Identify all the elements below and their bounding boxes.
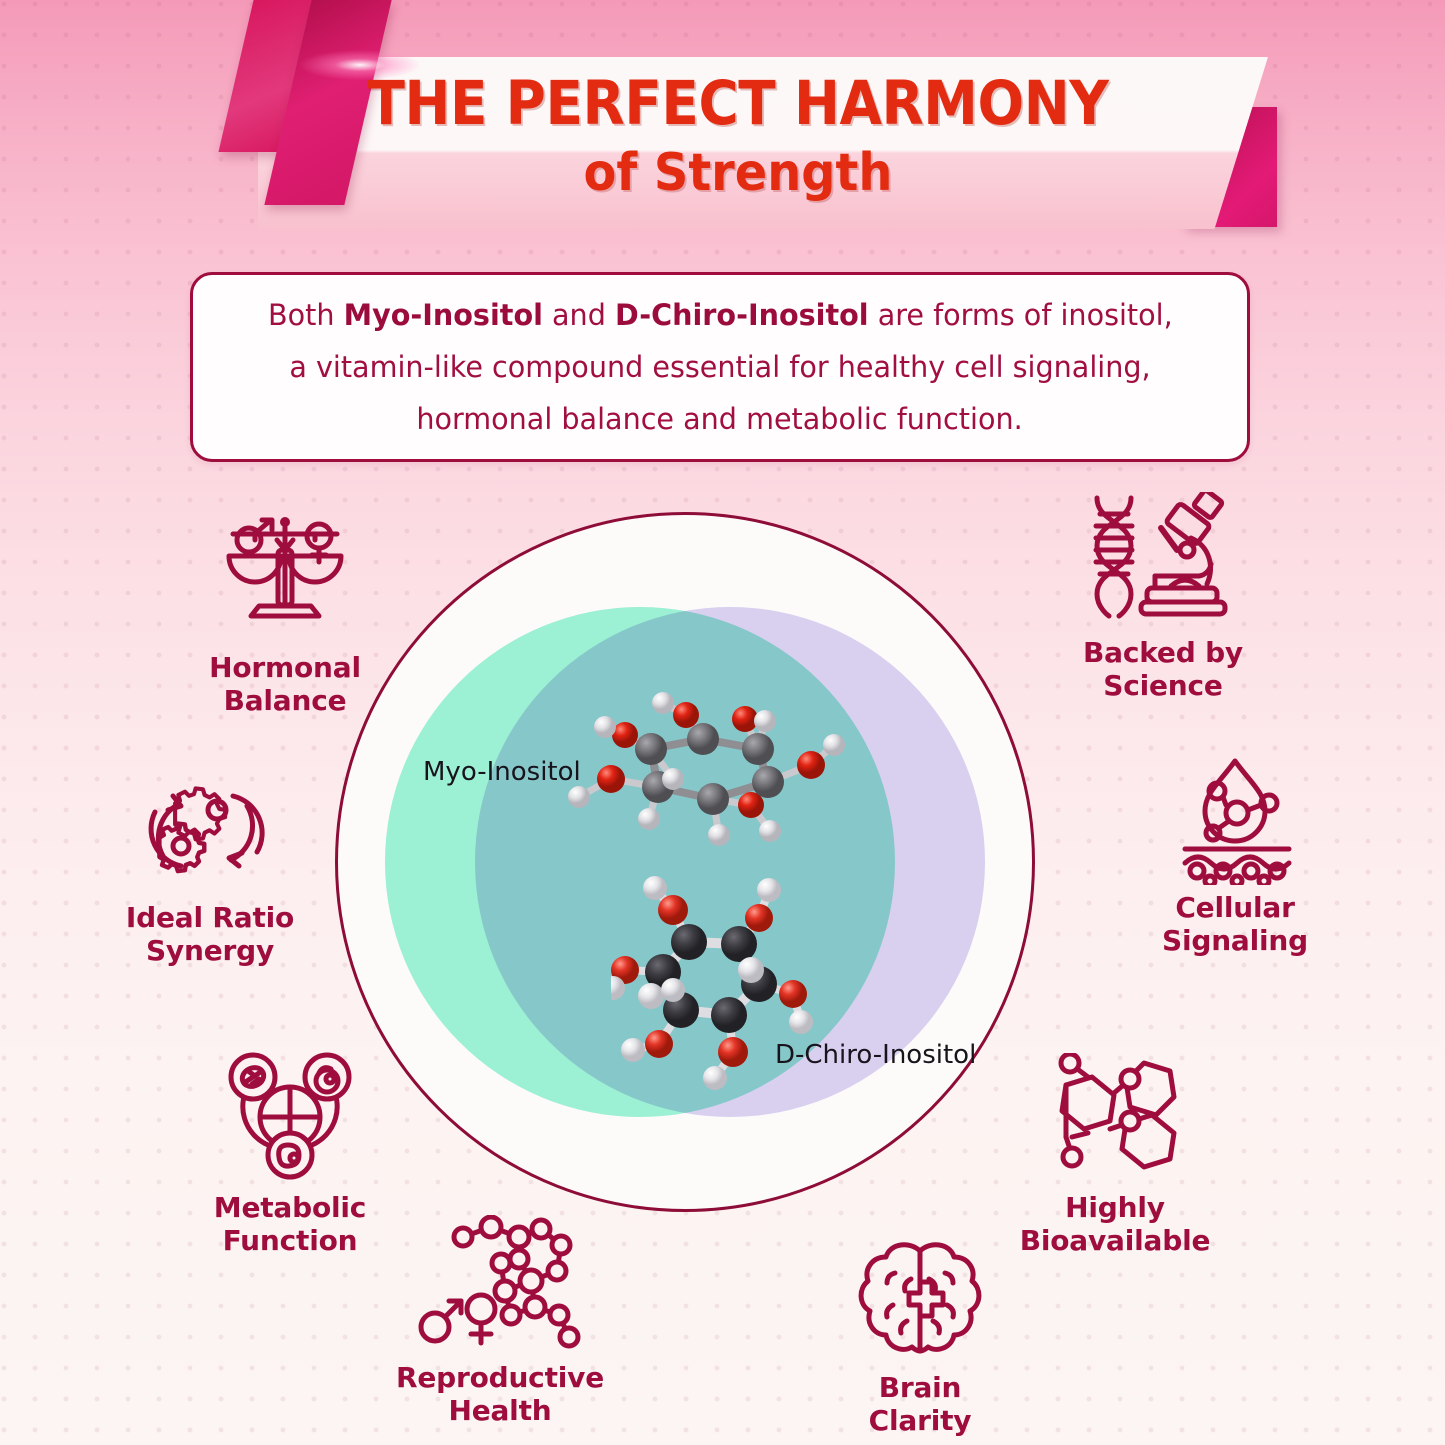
feature-backed-by-science[interactable]: Backed byScience <box>1048 490 1278 702</box>
infographic-page: THE PERFECT HARMONY of Strength Both Myo… <box>0 0 1445 1445</box>
venn-label-myo-inositol: Myo-Inositol <box>423 757 581 787</box>
feature-metabolic-function[interactable]: MetabolicFunction <box>175 1045 405 1257</box>
balance-scale-gender-icon <box>170 505 400 645</box>
feature-reproductive-health[interactable]: ReproductiveHealth <box>385 1215 615 1427</box>
intro-line-2: a vitamin-like compound essential for he… <box>289 341 1150 393</box>
nutrition-plate-icon <box>175 1045 405 1185</box>
feature-label-highly-bioavailable: HighlyBioavailable <box>1000 1191 1230 1257</box>
page-title-line2: of Strength <box>296 143 1179 203</box>
intro-line-3: hormonal balance and metabolic function. <box>417 393 1023 445</box>
intro-text-mid: and <box>543 298 615 332</box>
dna-microscope-icon <box>1048 490 1278 630</box>
page-title-line1: THE PERFECT HARMONY <box>306 68 1170 139</box>
intro-text-pre: Both <box>268 298 344 332</box>
droplet-skin-layers-icon <box>1120 745 1350 885</box>
feature-cellular-signaling[interactable]: CellularSignaling <box>1120 745 1350 957</box>
intro-text-box: Both Myo-Inositol and D-Chiro-Inositol a… <box>190 272 1250 462</box>
feature-hormonal-balance[interactable]: HormonalBalance <box>170 505 400 717</box>
feature-label-brain-clarity: BrainClarity <box>805 1371 1035 1437</box>
feature-label-ideal-ratio-synergy: Ideal RatioSynergy <box>95 901 325 967</box>
header-banner: THE PERFECT HARMONY of Strength <box>0 0 1445 270</box>
molecule-gender-icon <box>385 1215 615 1355</box>
venn-label-d-chiro-inositol: D-Chiro-Inositol <box>775 1040 976 1070</box>
gears-cycle-icon <box>95 755 325 895</box>
feature-label-metabolic-function: MetabolicFunction <box>175 1191 405 1257</box>
intro-bold-myo: Myo-Inositol <box>343 298 542 332</box>
hexagon-molecule-icon <box>1000 1045 1230 1185</box>
feature-ideal-ratio-synergy[interactable]: Ideal RatioSynergy <box>95 755 325 967</box>
myo-inositol-molecule <box>553 687 853 862</box>
feature-label-reproductive-health: ReproductiveHealth <box>385 1361 615 1427</box>
venn-diagram: Myo-Inositol D-Chiro-Inositol <box>335 512 1035 1212</box>
feature-highly-bioavailable[interactable]: HighlyBioavailable <box>1000 1045 1230 1257</box>
intro-text-post: are forms of inositol, <box>868 298 1172 332</box>
intro-line-1: Both Myo-Inositol and D-Chiro-Inositol a… <box>268 289 1173 341</box>
intro-bold-dci: D-Chiro-Inositol <box>615 298 869 332</box>
feature-label-hormonal-balance: HormonalBalance <box>170 651 400 717</box>
feature-label-cellular-signaling: CellularSignaling <box>1120 891 1350 957</box>
feature-label-backed-by-science: Backed byScience <box>1048 636 1278 702</box>
